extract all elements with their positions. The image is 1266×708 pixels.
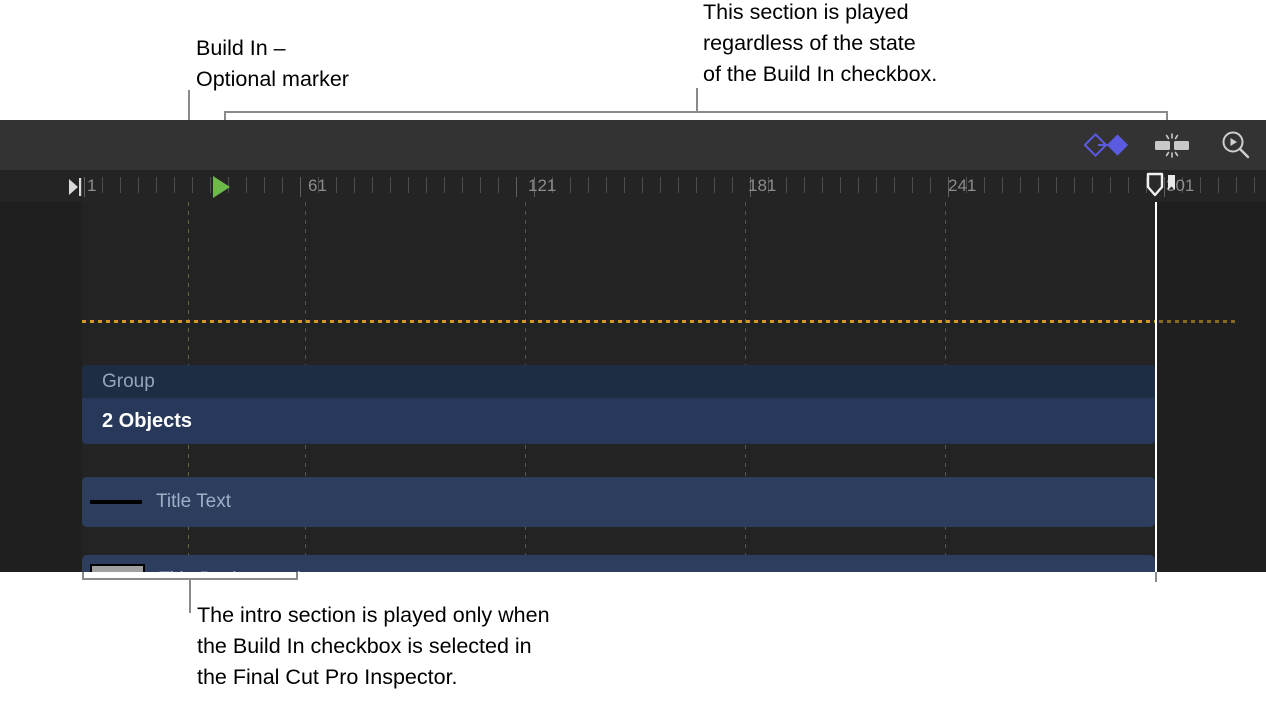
ruler-tick	[786, 177, 787, 193]
track-row-group[interactable]: Group	[82, 365, 1155, 398]
ruler-tick	[210, 177, 211, 193]
ruler-tick	[804, 177, 805, 193]
ruler-tick	[1020, 177, 1021, 193]
callout-played-regardless: This section is played regardless of the…	[703, 0, 937, 90]
ruler-tick	[984, 177, 985, 193]
ruler-tick	[606, 177, 607, 193]
leader-line-played-regardless-drop	[696, 88, 698, 112]
track-label-group: Group	[82, 371, 155, 393]
ruler-tick	[426, 177, 427, 193]
ruler-label-121: 121	[528, 176, 556, 196]
build-in-marker-icon[interactable]	[213, 176, 230, 198]
ruler-tick	[282, 177, 283, 193]
ruler-label-241: 241	[948, 176, 976, 196]
play-range-indicator-tail	[1159, 320, 1236, 323]
ruler-tick	[516, 177, 517, 197]
play-range-indicator	[82, 320, 1157, 323]
ruler-tick	[246, 177, 247, 193]
ruler-tick	[822, 177, 823, 193]
ruler-tick	[264, 177, 265, 193]
ruler-tick	[660, 177, 661, 193]
zoom-play-icon[interactable]	[1208, 120, 1264, 170]
ruler-tick	[408, 177, 409, 193]
ruler-tick	[120, 177, 121, 193]
ruler-label-61: 61	[308, 176, 327, 196]
playhead-stem-below	[1155, 572, 1157, 582]
keyframe-icon[interactable]	[1079, 120, 1135, 170]
ruler-tick	[1002, 177, 1003, 193]
ruler-tick	[840, 177, 841, 193]
timeline-window: 161121181241301 Group 2 Objects Title	[0, 120, 1266, 572]
callout-build-in: Build In – Optional marker	[196, 33, 349, 95]
ruler-tick	[300, 177, 301, 197]
ruler-tick	[732, 177, 733, 193]
ruler-tick	[174, 177, 175, 193]
ruler-tick	[1200, 177, 1201, 193]
ruler-label-181: 181	[748, 176, 776, 196]
ruler-tick	[1056, 177, 1057, 193]
ruler-tick	[588, 177, 589, 193]
ruler-tick	[894, 177, 895, 193]
track-label-title-background: Title Background	[159, 569, 301, 572]
ruler-tick	[624, 177, 625, 193]
ruler-tick	[480, 177, 481, 193]
ruler-tick	[354, 177, 355, 193]
ruler-tick	[462, 177, 463, 193]
track-label-title-text: Title Text	[156, 491, 231, 513]
ruler-tick	[1074, 177, 1075, 193]
ruler-tick	[192, 177, 193, 193]
end-marker-icon[interactable]	[1142, 170, 1178, 202]
track-label-objects: 2 Objects	[82, 410, 192, 433]
ruler-tick	[390, 177, 391, 193]
ruler-tick	[102, 177, 103, 193]
ruler-tick	[1128, 177, 1129, 193]
ruler-tick	[678, 177, 679, 193]
ruler-tick	[372, 177, 373, 193]
timeline-toolbar	[0, 120, 1266, 170]
ruler-tick	[930, 177, 931, 193]
ruler-tick	[498, 177, 499, 193]
ruler-tick	[912, 177, 913, 193]
ruler-label-1: 1	[87, 176, 96, 196]
playhead-line	[1155, 202, 1157, 572]
ruler-tick	[570, 177, 571, 193]
line-thumbnail-icon	[90, 500, 142, 504]
callout-intro-section: The intro section is played only when th…	[197, 600, 550, 693]
timeline-tracks: Group 2 Objects Title Text Title Backgro…	[0, 202, 1266, 572]
ruler-tick	[1092, 177, 1093, 193]
gradient-box-thumbnail-icon	[90, 564, 145, 572]
track-row-title-background[interactable]: Title Background	[82, 555, 1155, 572]
ruler-tick	[1236, 177, 1237, 193]
ruler-tick	[336, 177, 337, 193]
ruler-tick	[138, 177, 139, 193]
ruler-tick	[1218, 177, 1219, 193]
ruler-start-icon	[68, 178, 82, 196]
ruler-tick	[1110, 177, 1111, 193]
track-row-title-text[interactable]: Title Text	[82, 477, 1155, 527]
leader-line-intro-drop	[189, 580, 191, 613]
track-row-objects[interactable]: 2 Objects	[82, 398, 1155, 444]
ruler-tick	[84, 177, 85, 197]
timeline-ruler[interactable]: 161121181241301	[0, 170, 1266, 203]
ruler-tick	[156, 177, 157, 193]
ruler-tick	[696, 177, 697, 193]
ruler-tick	[1038, 177, 1039, 193]
annotated-screenshot: Build In – Optional marker This section …	[0, 0, 1266, 708]
ruler-tick	[714, 177, 715, 193]
ruler-tick	[876, 177, 877, 193]
ruler-tick	[642, 177, 643, 193]
ruler-tick	[1254, 177, 1255, 193]
split-clip-icon[interactable]	[1144, 120, 1200, 170]
ruler-tick	[858, 177, 859, 193]
ruler-tick	[444, 177, 445, 193]
